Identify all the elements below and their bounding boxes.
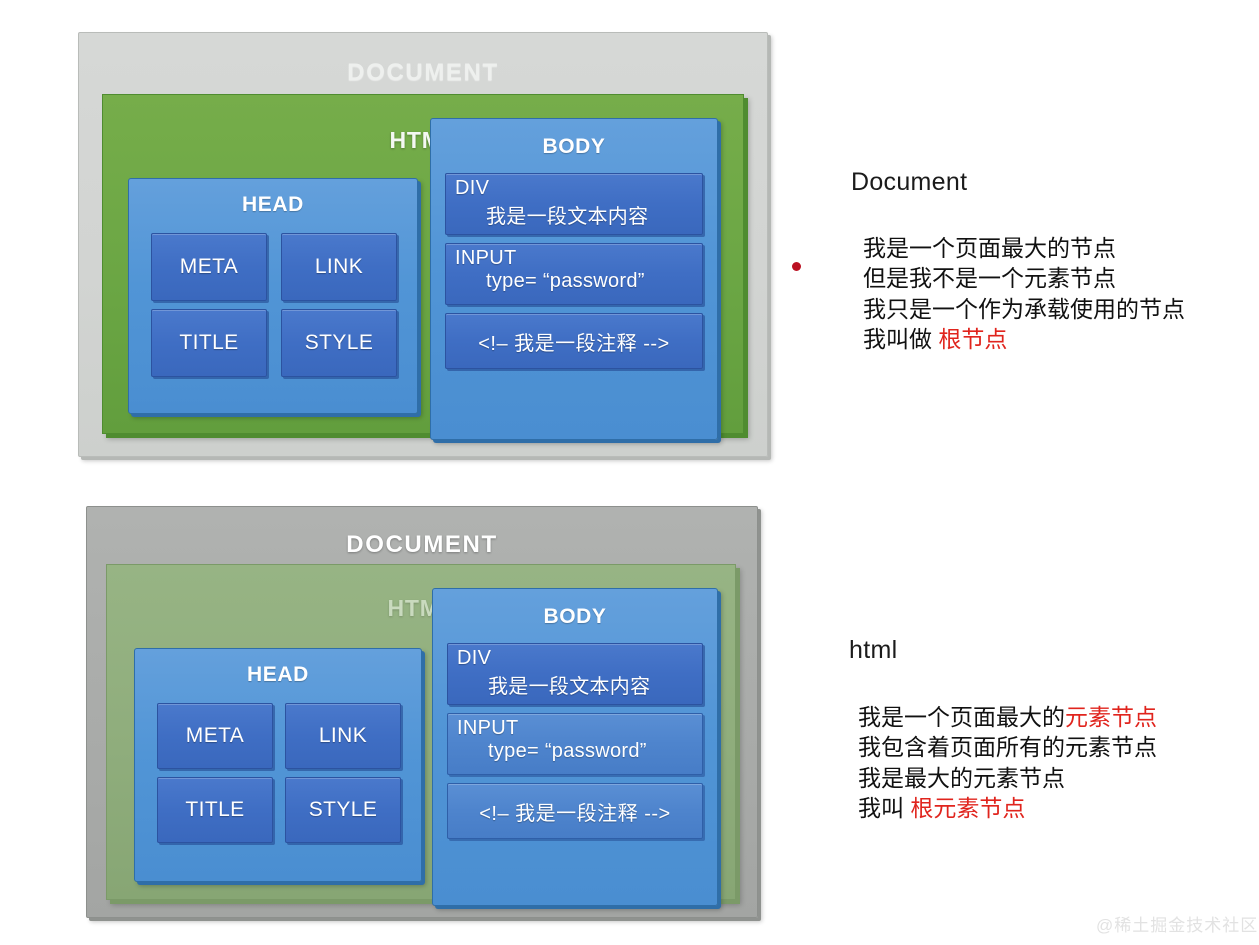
annotation-line-text: 但是我不是一个元素节点 <box>863 265 1116 291</box>
head-panel-1: HEAD META LINK TITLE STYLE <box>128 178 418 414</box>
annotation-html-heading: html <box>849 636 1240 665</box>
input-tag-label-1: INPUT <box>455 247 517 270</box>
annotation-document-heading: Document <box>851 168 1240 197</box>
annotation-html: html 我是一个页面最大的元素节点 我包含着页面所有的元素节点 我是最大的元素… <box>790 636 1240 823</box>
annotation-line-text: 我叫做 <box>863 326 938 352</box>
input-type-value-2: type= “password” <box>488 740 647 763</box>
document-label-1: DOCUMENT <box>79 59 767 87</box>
input-tag-label-2: INPUT <box>457 717 519 740</box>
div-text-content-2: 我是一段文本内容 <box>488 670 650 699</box>
head-tile-meta-2: META <box>157 703 273 769</box>
div-tag-label-2: DIV <box>457 647 491 670</box>
document-label-2: DOCUMENT <box>87 531 757 559</box>
div-text-content-1: 我是一段文本内容 <box>486 200 648 229</box>
annotation-line: 我是最大的元素节点 <box>858 763 1240 793</box>
annotation-line: 我只是一个作为承载使用的节点 <box>863 294 1240 324</box>
annotation-document: Document 我是一个页面最大的节点 但是我不是一个元素节点 我只是一个作为… <box>790 168 1240 354</box>
annotation-line-text: 我叫 <box>858 795 910 821</box>
annotation-line: 我叫 根元素节点 <box>858 793 1240 823</box>
site-watermark: @稀土掘金技术社区 <box>1096 911 1258 936</box>
annotation-line-text: 我是一个页面最大的节点 <box>863 235 1116 261</box>
head-panel-2: HEAD META LINK TITLE STYLE <box>134 648 422 882</box>
body-panel-1: BODY DIV 我是一段文本内容 INPUT type= “password”… <box>430 118 718 440</box>
head-tile-link-1: LINK <box>281 233 397 301</box>
body-row-comment-2: <!– 我是一段注释 --> <box>447 783 703 839</box>
body-label-2: BODY <box>433 605 717 629</box>
input-type-value-1: type= “password” <box>486 270 645 293</box>
annotation-line-text: 我是一个页面最大的 <box>858 704 1065 730</box>
annotation-line: 我是一个页面最大的节点 <box>863 233 1240 263</box>
annotation-line: 我是一个页面最大的元素节点 <box>858 702 1240 732</box>
annotation-line-text: 我包含着页面所有的元素节点 <box>858 734 1157 760</box>
body-panel-2: BODY DIV 我是一段文本内容 INPUT type= “password”… <box>432 588 718 906</box>
annotation-line-text: 我只是一个作为承载使用的节点 <box>863 296 1185 322</box>
head-tile-style-2: STYLE <box>285 777 401 843</box>
head-tile-link-2: LINK <box>285 703 401 769</box>
annotation-line-highlight: 根节点 <box>938 326 1007 352</box>
annotation-line: 我叫做 根节点 <box>863 324 1240 354</box>
head-label-1: HEAD <box>129 193 417 217</box>
head-tile-style-1: STYLE <box>281 309 397 377</box>
annotation-line-highlight: 元素节点 <box>1065 704 1157 730</box>
head-tile-title-1: TITLE <box>151 309 267 377</box>
bullet-point-icon <box>792 262 801 271</box>
annotation-document-body: 我是一个页面最大的节点 但是我不是一个元素节点 我只是一个作为承载使用的节点 我… <box>863 233 1240 354</box>
dom-diagram-document: DOCUMENT HTML HEAD META LINK TITLE STYLE… <box>78 32 768 457</box>
annotation-line-highlight: 根元素节点 <box>910 795 1025 821</box>
annotation-line: 我包含着页面所有的元素节点 <box>858 732 1240 762</box>
dom-diagram-html: DOCUMENT HTML HEAD META LINK TITLE STYLE… <box>86 506 758 918</box>
annotation-html-body: 我是一个页面最大的元素节点 我包含着页面所有的元素节点 我是最大的元素节点 我叫… <box>858 702 1240 823</box>
div-tag-label-1: DIV <box>455 177 489 200</box>
body-row-comment-1: <!– 我是一段注释 --> <box>445 313 703 369</box>
head-label-2: HEAD <box>135 663 421 687</box>
body-row-input-2: INPUT type= “password” <box>447 713 703 775</box>
head-tile-meta-1: META <box>151 233 267 301</box>
body-row-input-1: INPUT type= “password” <box>445 243 703 305</box>
annotation-line: 但是我不是一个元素节点 <box>863 263 1240 293</box>
body-label-1: BODY <box>431 135 717 159</box>
head-tile-title-2: TITLE <box>157 777 273 843</box>
annotation-line-text: 我是最大的元素节点 <box>858 765 1065 791</box>
body-row-div-1: DIV 我是一段文本内容 <box>445 173 703 235</box>
body-row-div-2: DIV 我是一段文本内容 <box>447 643 703 705</box>
